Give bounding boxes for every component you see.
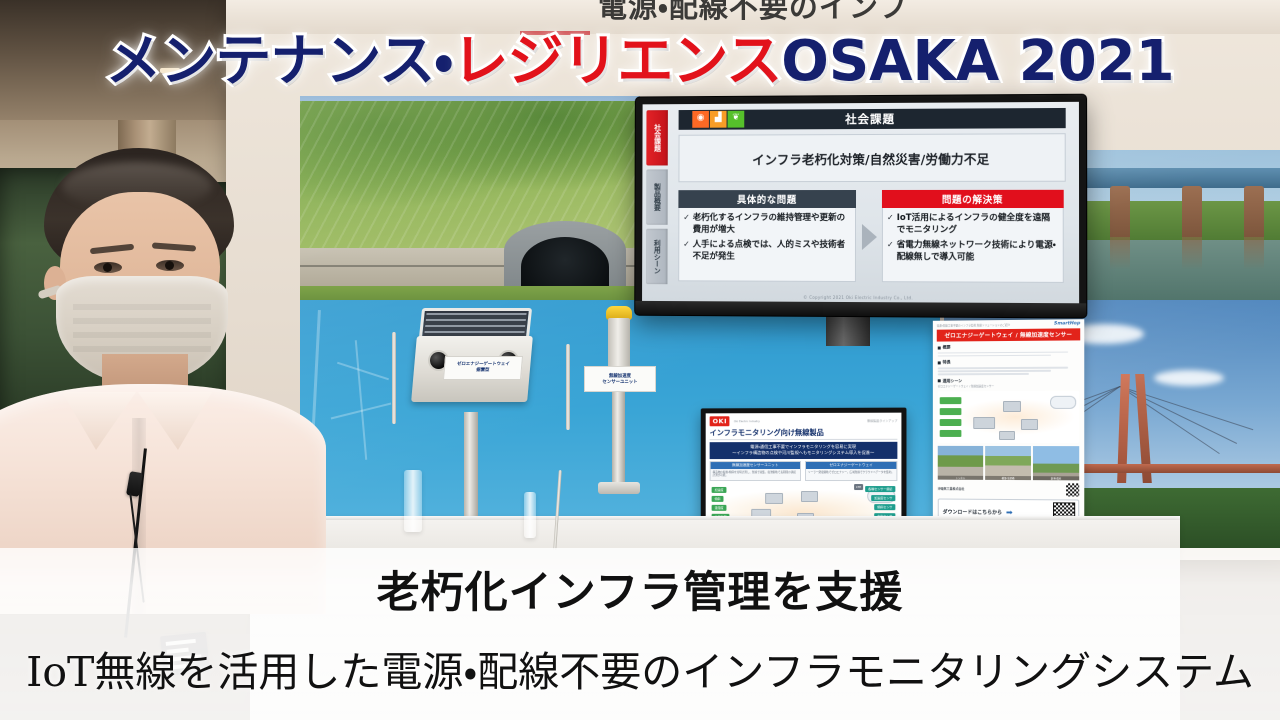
poster-header: 電源・配線工事不要のインフラ監視 無線ソリューションのご紹介 SmartHop [933,319,1084,328]
antenna-rod [392,332,396,424]
hand-sanitizer-bottle [404,470,422,532]
panel-card: 無線加速度センサーユニット 構造物の振動・傾斜を常時計測し、無線で収集。電池駆動… [710,461,801,482]
solution-list: ✓IoT活用によるインフラの健全度を遠隔でモニタリング ✓省電力無線ネットワーク… [882,208,1064,283]
poster-photo-caption: トンネル [938,476,983,480]
oki-logo: OKI [710,416,730,426]
check-icon: ✓ [887,239,894,264]
solution-column: 問題の解決策 ✓IoT活用によるインフラの健全度を遠隔でモニタリング ✓省電力無… [882,190,1064,283]
monitor-mount-arm [826,312,870,346]
slide-tab-social-issues[interactable]: 社会課題 [646,110,668,165]
flow-arrow-container [856,190,882,250]
slide-tab-list: 社会課題 製品概要 利用シーン [646,110,668,288]
slide-title-bar: ◉ ▟ ❦ 社会課題 [679,108,1066,130]
booth-backdrop-header-text: 電源・配線不要のインフ [226,0,1280,26]
check-icon: ✓ [683,212,690,237]
oki-logo-subtext: Oki Electric Industry [734,420,760,423]
poster-company-name: 沖電気工業株式会社 [938,487,965,491]
eye [94,262,122,273]
poster-footer: 沖電気工業株式会社 [938,483,1079,497]
zero-energy-gateway-device: ゼロエナジーゲートウェイ 据置型 [408,308,534,420]
panel-card-heading: ゼロエナジーゲートウェイ [806,462,896,469]
solution-heading: 問題の解決策 [882,190,1064,208]
panel-corner-note: 無線製品ラインアップ [867,419,897,423]
sensor-label-line-2: センサーユニット [602,379,637,385]
slide-tab-label: 利用シーン [653,239,660,274]
bullet-square-icon [938,361,941,364]
panel-tag-right: 加速度センサ [871,495,895,501]
qr-code-icon [1066,483,1079,496]
panel-card-body: 構造物の振動・傾斜を常時計測し、無線で収集。電池駆動で長期間の連続計測が可能。 [711,469,800,481]
sdg-9-industry-icon: ◉ [692,111,709,128]
video-frame: 電源・配線不要のインフ [0,0,1280,720]
solution-item-text: IoT活用によるインフラの健全度を遠隔でモニタリング [897,212,1059,237]
poster-section: 概要 [938,343,1079,356]
product-poster: 電源・配線工事不要のインフラ監視 無線ソリューションのご紹介 SmartHop … [933,319,1084,533]
gateway-name-plate: ゼロエナジーゲートウェイ 据置型 [443,356,523,380]
monitor-screen: 社会課題 製品概要 利用シーン ◉ ▟ ❦ [642,102,1079,303]
diagram-node [765,493,783,504]
panel-title: インフラモニタリング向け無線製品 [710,428,898,440]
diagram-node [801,491,818,502]
poster-photo-caption: 橋梁・高架橋 [985,476,1031,480]
slide-title: 社会課題 [845,111,895,127]
booth-backdrop-header: 電源・配線不要のインフ [226,0,1280,34]
panel-card-body: ソーラー発電駆動でゼロエナジー。広域無線でクラウドへデータを集約。 [806,469,896,477]
poster-top-note: 電源・配線工事不要のインフラ監視 無線ソリューションのご紹介 [937,322,1010,327]
slide-body: ◉ ▟ ❦ 社会課題 インフラ老朽化対策/自然災害/労働力不足 具体的な問題 [678,108,1066,283]
slide-tab-product-overview[interactable]: 製品概要 [646,169,668,224]
problem-item-text: 老朽化するインフラの維持管理や更新の費用が増大 [693,212,851,237]
problem-item-text: 人手による点検では、人的ミスや技術者不足が発生 [693,239,851,264]
poster-photo: 鉄塔・電柱 [1033,446,1079,480]
poster-photo-strip: トンネル 橋梁・高架橋 鉄塔・電柱 [938,446,1079,481]
gateway-label-line-2: 据置型 [476,368,490,374]
poster-photo-caption: 鉄塔・電柱 [1033,476,1079,480]
poster-photo: トンネル [938,446,983,480]
slide-tab-label: 製品概要 [654,183,661,211]
booth-header-accent [520,31,590,35]
panel-tag-left: 温湿度 [712,505,727,511]
arrow-right-icon [861,224,876,250]
gateway-pole [464,412,478,532]
bottle [524,492,536,538]
presenter [0,148,316,568]
ceiling-light [160,68,180,73]
list-item: ✓省電力無線ネットワーク技術により電源・配線無しで導入可能 [887,239,1059,265]
monitor-bezel-bottom [635,301,1086,318]
sdg-icon-group: ◉ ▟ ❦ [692,111,744,128]
poster-section-heading-text: 概要 [943,344,951,350]
solution-item-text: 省電力無線ネットワーク技術により電源・配線無しで導入可能 [897,239,1059,265]
slide-copyright: © Copyright 2021 Oki Electric Industry C… [642,294,1079,301]
sdg-15-life-on-land-icon: ❦ [728,111,745,128]
poster-section-heading: 概要 [938,343,1079,350]
panel-card-heading: 無線加速度センサーユニット [711,462,800,469]
slide-columns: 具体的な問題 ✓老朽化するインフラの維持管理や更新の費用が増大 ✓人手による点検… [678,190,1066,283]
link-label: LTE [854,484,863,490]
panel-band-line-2: 〜インフラ構造物の点検や河川監視へもモニタリングシステム導入を促進〜 [712,450,896,457]
check-icon: ✓ [887,212,894,237]
caption-headline: 老朽化インフラ管理を支援 [0,558,1280,620]
poster-section: 特長 [938,359,1079,375]
panel-header: OKI Oki Electric Industry 無線製品ラインアップ [706,413,902,428]
panel-product-cards: 無線加速度センサーユニット 構造物の振動・傾斜を常時計測し、無線で収集。電池駆動… [710,461,898,482]
poster-section-heading-text: 特長 [943,360,951,366]
slide-tab-use-cases[interactable]: 利用シーン [646,229,668,284]
list-item: ✓IoT活用によるインフラの健全度を遠隔でモニタリング [887,212,1059,237]
problem-heading: 具体的な問題 [678,190,856,208]
bullet-square-icon [938,346,941,349]
poster-title-band: ゼロエナジーゲートウェイ / 無線加速度センサー [937,328,1080,341]
slide-lead-statement: インフラ老朽化対策/自然災害/労働力不足 [678,133,1065,182]
problem-column: 具体的な問題 ✓老朽化するインフラの維持管理や更新の費用が増大 ✓人手による点検… [678,190,856,282]
wall-monitor: 社会課題 製品概要 利用シーン ◉ ▟ ❦ [635,95,1086,318]
panel-tag-left: 加速度 [712,487,727,493]
poster-subsection-label: ゼロエナジーゲートウェイ / 無線加速度センサー [938,384,1079,389]
panel-tag-left: 傾斜 [712,496,724,502]
slide-tab-label: 社会課題 [654,124,661,152]
poster-section-heading: 特長 [938,359,1079,366]
sensor-name-plate: 無線加速度 センサーユニット [584,366,656,392]
poster-system-diagram [938,391,1079,443]
caption-subline: IoT無線を活用した電源・配線不要のインフラモニタリングシステム [0,638,1280,698]
panel-band: 電源・通信工事不要でインフラモニタリングを容易に実現 〜インフラ構造物の点検や河… [710,442,898,459]
panel-tag-right: 傾斜センサ [874,504,895,510]
problem-list: ✓老朽化するインフラの維持管理や更新の費用が増大 ✓人手による点検では、人的ミス… [678,208,856,282]
list-item: ✓老朽化するインフラの維持管理や更新の費用が増大 [683,212,851,237]
sensor-base [598,482,640,494]
poster-photo: 橋梁・高架橋 [985,446,1031,480]
smarthop-logo: SmartHop [1054,321,1080,326]
poster-section: 適用シーン ゼロエナジーゲートウェイ / 無線加速度センサー [938,378,1079,389]
presentation-slide: 社会課題 製品概要 利用シーン ◉ ▟ ❦ [642,102,1079,303]
sensor-pole [612,376,625,486]
panel-tag-right-header: 各種センサー接続 [865,486,895,492]
antenna-rod [566,344,570,430]
panel-card: ゼロエナジーゲートウェイ ソーラー発電駆動でゼロエナジー。広域無線でクラウドへデ… [805,461,897,482]
sdg-11-cities-icon: ▟ [710,111,727,128]
check-icon: ✓ [683,239,690,264]
eye [156,260,184,271]
cloud-icon [1050,396,1076,409]
list-item: ✓人手による点検では、人的ミスや技術者不足が発生 [683,239,851,264]
bullet-square-icon [938,380,941,383]
